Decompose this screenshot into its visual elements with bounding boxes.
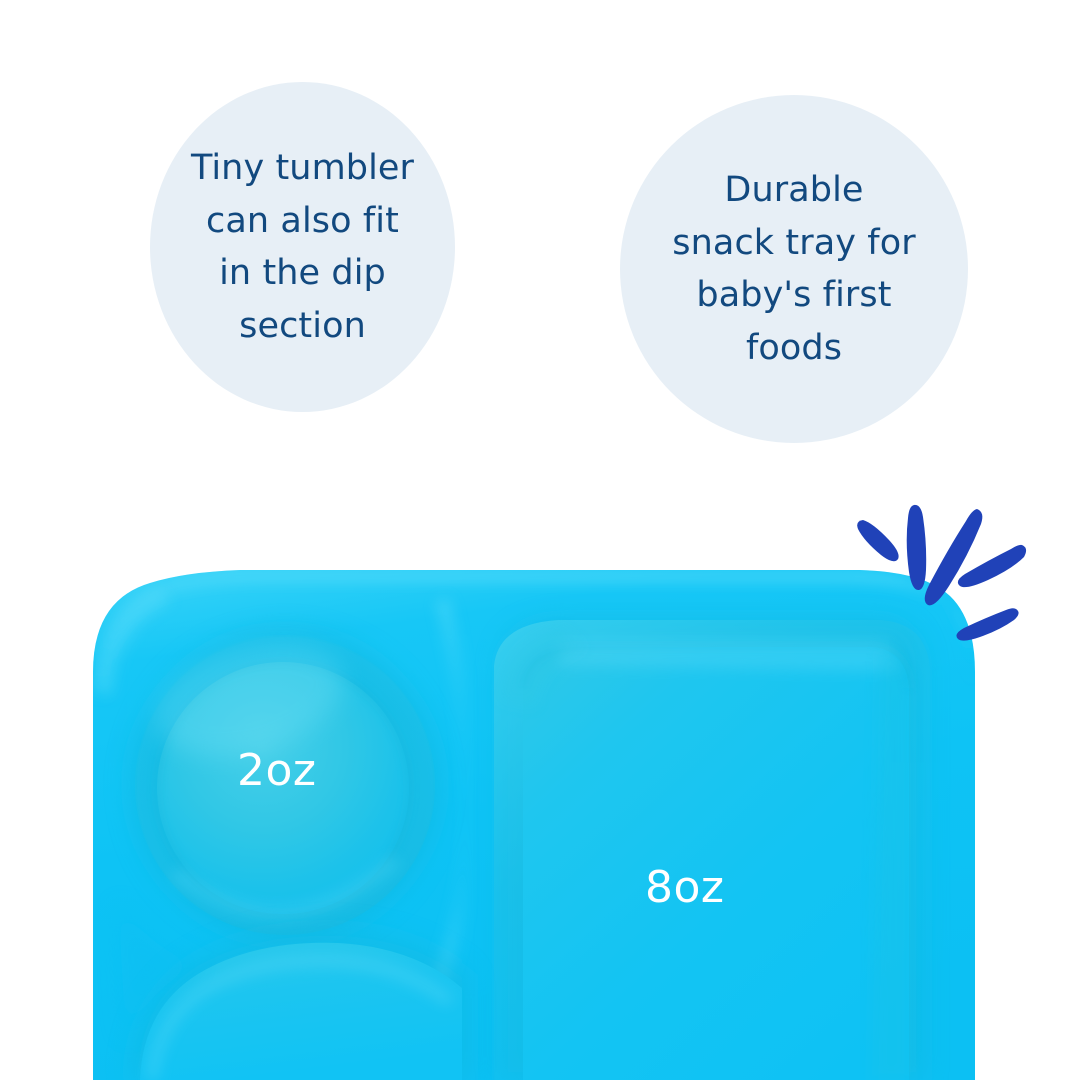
main-well-floor (523, 647, 909, 1080)
snack-tray-illustration (0, 0, 1080, 1080)
sparkle-ray-3 (925, 509, 983, 605)
compartment-main-well (494, 618, 930, 1080)
sparkle-ray-1 (857, 520, 898, 561)
product-photo (0, 0, 1080, 1080)
